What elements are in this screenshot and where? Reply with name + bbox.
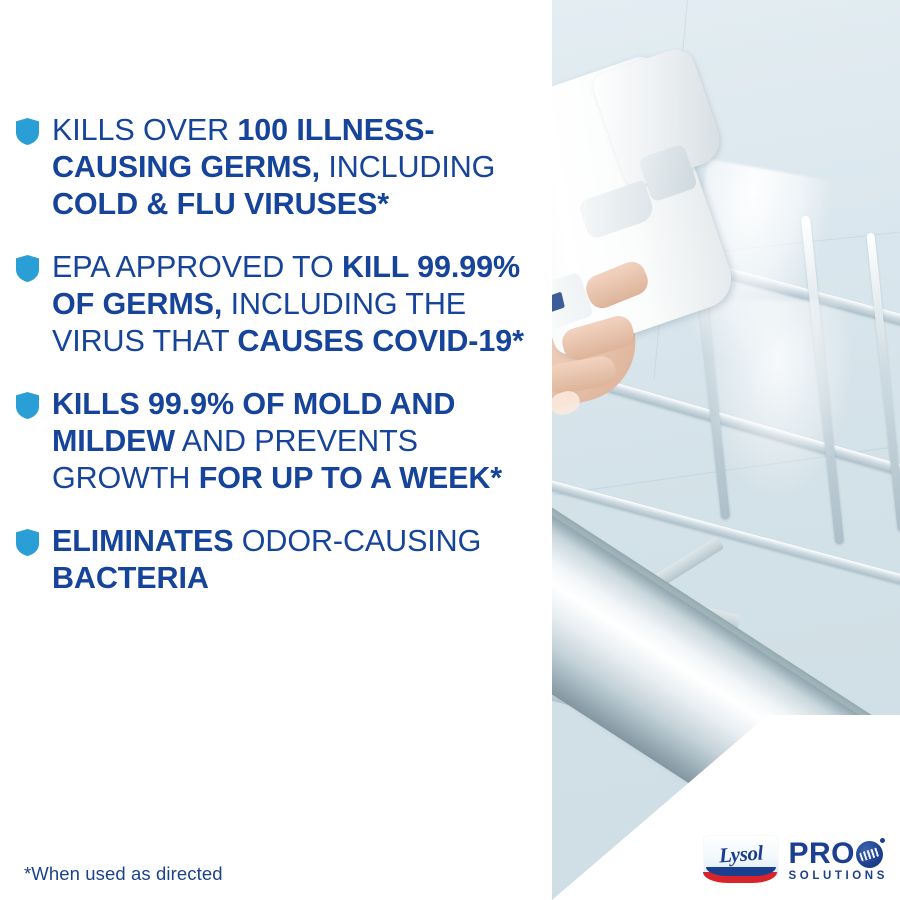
product-benefits-graphic: KILLS OVER 100 ILLNESS-CAUSING GERMS, IN… xyxy=(0,0,900,900)
sparkle-icon xyxy=(880,838,885,843)
pro-solutions-logo: PRO SOLUTIONS xyxy=(789,840,889,882)
product-photo: Lysol PRO SOLUTIONS xyxy=(552,0,900,900)
lysol-wordmark: Lysol xyxy=(703,839,779,869)
claim-text: ELIMINATES ODOR-CAUSING BACTERIA xyxy=(52,523,532,597)
solutions-wordmark: SOLUTIONS xyxy=(789,870,889,882)
claim-text: KILLS OVER 100 ILLNESS-CAUSING GERMS, IN… xyxy=(52,112,532,223)
pro-wordmark: PRO xyxy=(789,840,889,869)
claim-item: ELIMINATES ODOR-CAUSING BACTERIA xyxy=(16,523,546,597)
claims-panel: KILLS OVER 100 ILLNESS-CAUSING GERMS, IN… xyxy=(0,0,552,900)
shield-icon xyxy=(16,392,39,419)
shield-icon xyxy=(16,255,39,282)
footnote-text: *When used as directed xyxy=(24,863,223,885)
spray-mist xyxy=(702,300,892,600)
claim-item: KILLS OVER 100 ILLNESS-CAUSING GERMS, IN… xyxy=(16,112,546,223)
claim-item: EPA APPROVED TO KILL 99.99% OF GERMS, IN… xyxy=(16,249,546,360)
shield-icon xyxy=(16,118,39,145)
lysol-logo: Lysol xyxy=(704,836,778,886)
claim-item: KILLS 99.9% OF MOLD AND MILDEW AND PREVE… xyxy=(16,386,546,497)
claim-text: KILLS 99.9% OF MOLD AND MILDEW AND PREVE… xyxy=(52,386,532,497)
globe-icon xyxy=(856,841,883,868)
pro-letters: PRO xyxy=(789,840,856,869)
claim-text: EPA APPROVED TO KILL 99.99% OF GERMS, IN… xyxy=(52,249,532,360)
claims-list: KILLS OVER 100 ILLNESS-CAUSING GERMS, IN… xyxy=(16,112,546,624)
brand-logos: Lysol PRO SOLUTIONS xyxy=(704,836,889,886)
shield-icon xyxy=(16,529,39,556)
